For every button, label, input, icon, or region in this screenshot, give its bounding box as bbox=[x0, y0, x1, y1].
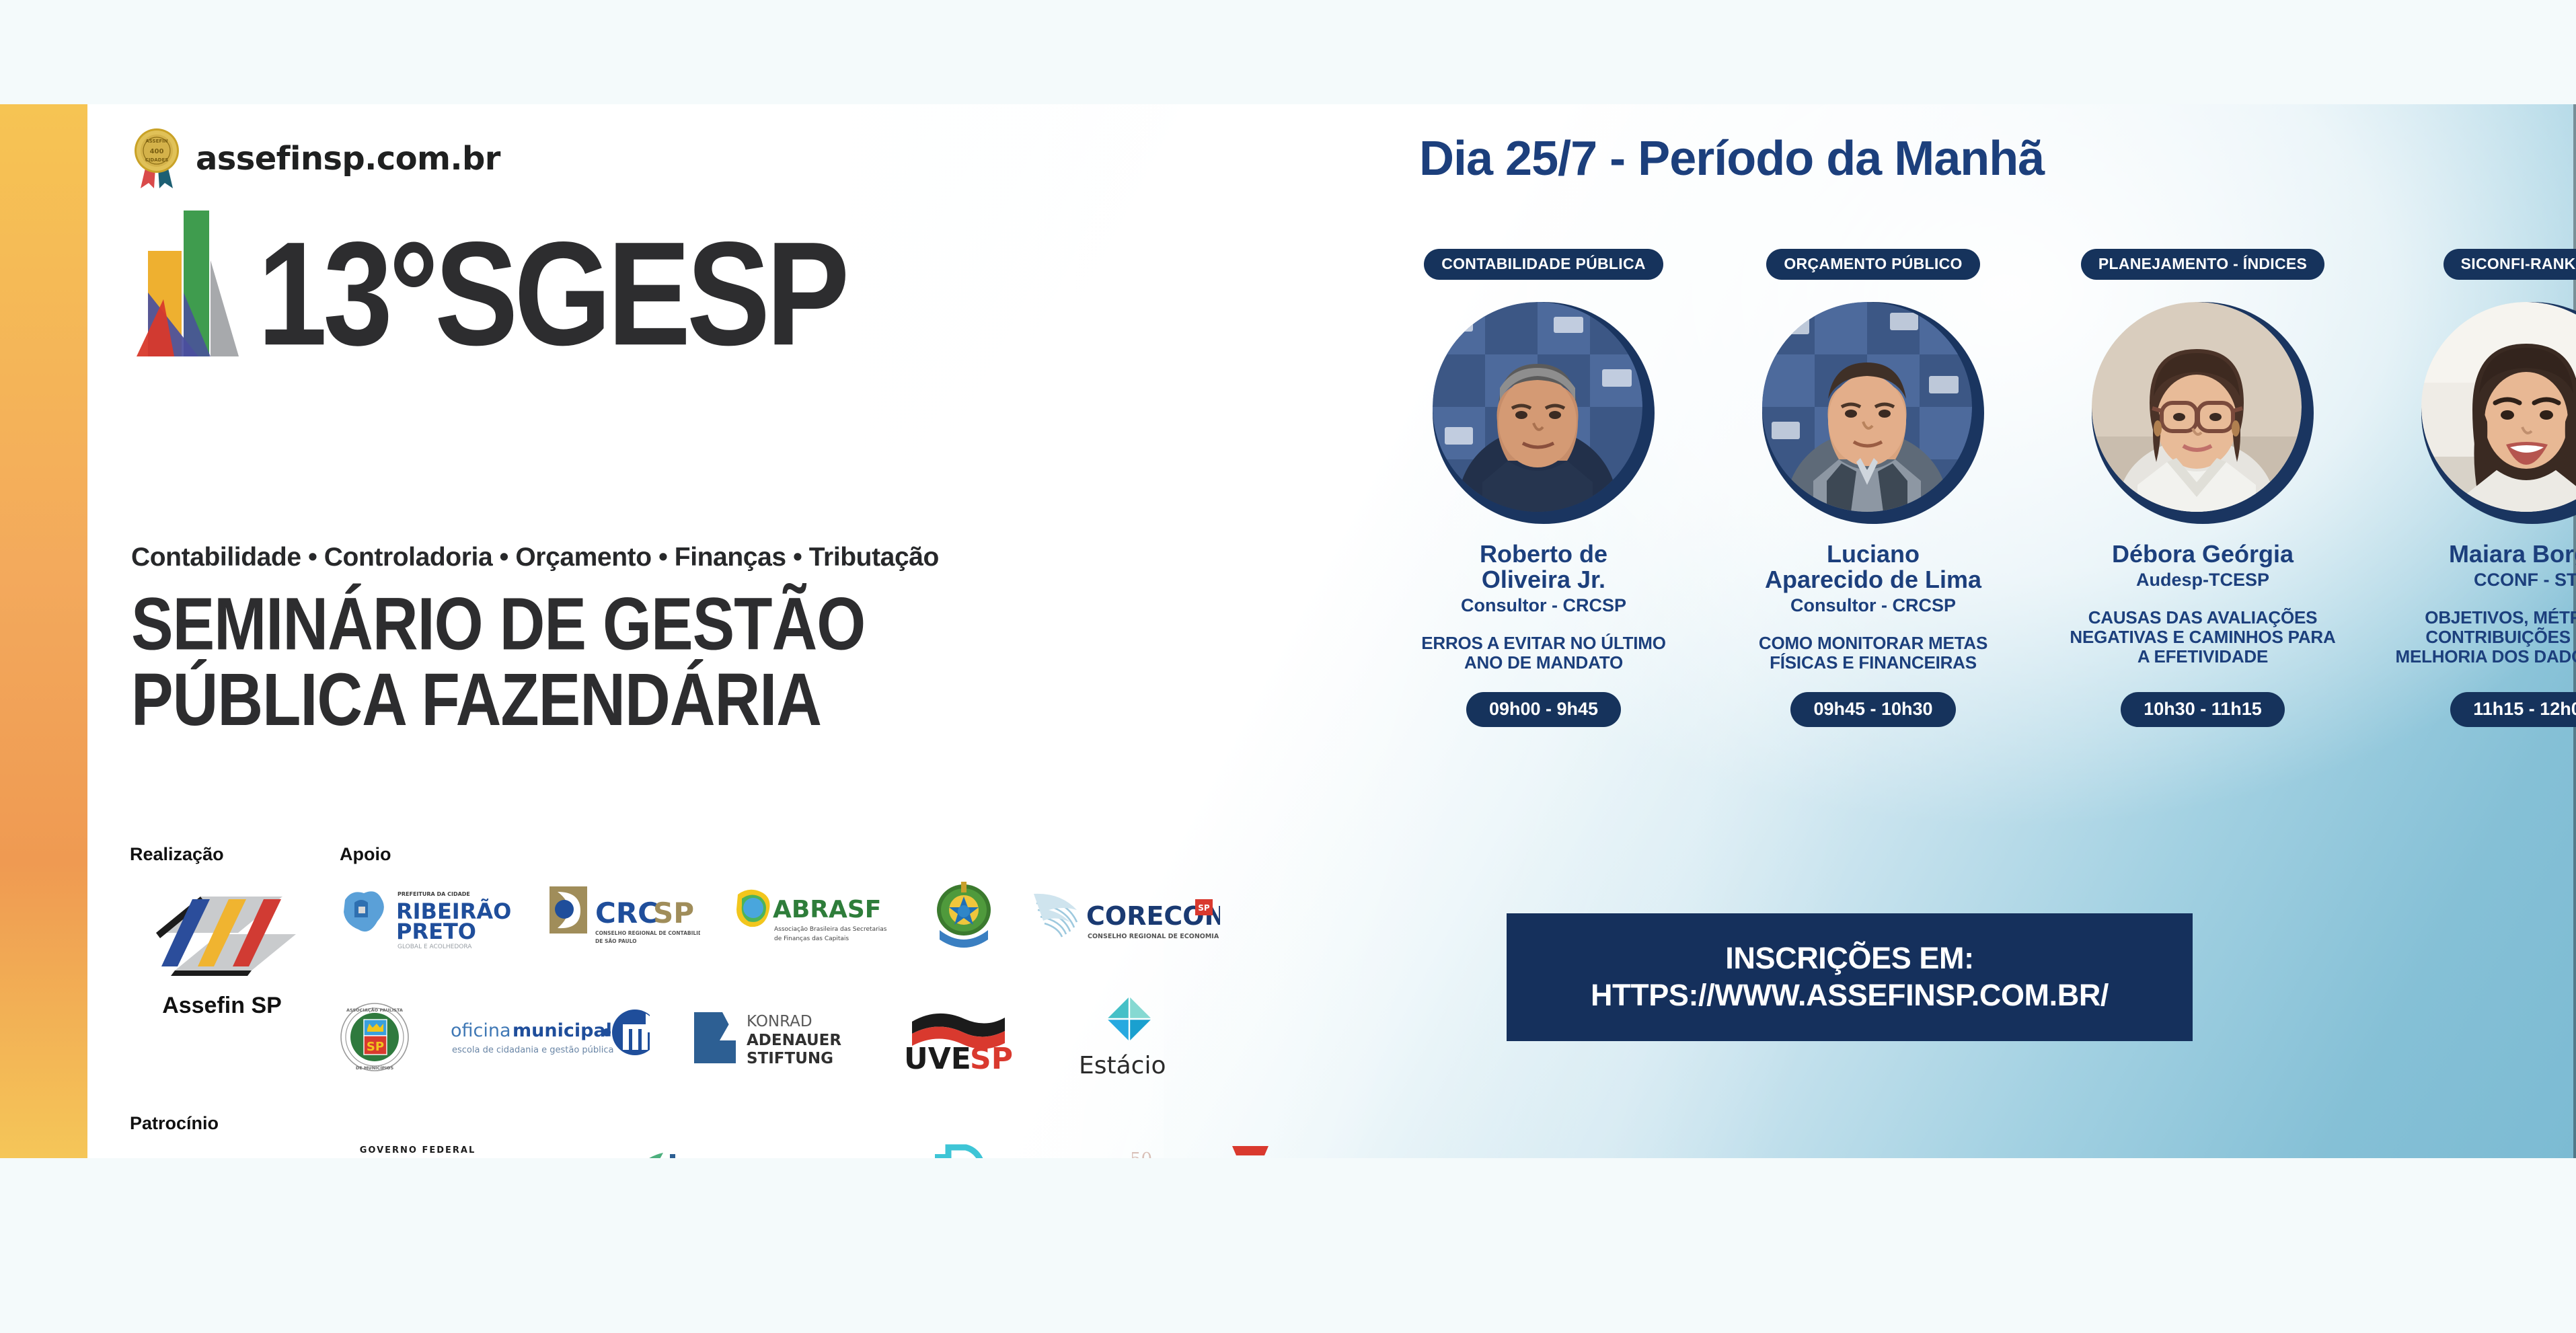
logo-brasao-republica bbox=[930, 878, 997, 955]
logo-serpro: SERPRO bbox=[130, 1152, 298, 1159]
speaker-name-line1: Débora Geórgia bbox=[2112, 541, 2294, 567]
assefin-name: Assefin SP bbox=[131, 993, 313, 1019]
agenda-column: Dia 25/7 - Período da Manhã CONTABILIDAD… bbox=[1379, 104, 2549, 1158]
speaker-name-line2: Aparecido de Lima bbox=[1765, 567, 1981, 593]
logo-nota-control: NOTA CONTROL tecnologia bbox=[538, 1150, 696, 1158]
talk-line3: A EFETIVIDADE bbox=[2070, 647, 2335, 666]
svg-text:CONSELHO REGIONAL DE CONTABILI: CONSELHO REGIONAL DE CONTABILIDADE bbox=[595, 930, 700, 936]
talk-line3: MELHORIA DOS DADOS FISCAIS bbox=[2396, 647, 2576, 666]
svg-text:SP: SP bbox=[367, 1040, 384, 1054]
speaker-photo bbox=[2092, 302, 2302, 512]
svg-text:PREFEITURA DA CIDADE: PREFEITURA DA CIDADE bbox=[397, 891, 470, 897]
seminar-title-line2: PÚBLICA FAZENDÁRIA bbox=[131, 663, 865, 739]
speaker-photo bbox=[1762, 302, 1972, 512]
speaker-photo bbox=[1433, 302, 1642, 512]
session-time-pill: 11h15 - 12h00 bbox=[2450, 692, 2576, 727]
speaker-name: Débora Geórgia bbox=[2112, 541, 2294, 567]
svg-text:GOVERNO FEDERAL: GOVERNO FEDERAL bbox=[360, 1145, 476, 1155]
assefin-realizacao-block: Assefin SP bbox=[131, 884, 313, 1019]
apoio-label: Apoio bbox=[340, 844, 391, 865]
svg-text:GLOBAL E ACOLHEDORA: GLOBAL E ACOLHEDORA bbox=[397, 944, 472, 950]
talk-line2: CONTRIBUIÇÕES PARA A bbox=[2396, 627, 2576, 647]
speaker-role: Consultor - CRCSP bbox=[1790, 595, 1956, 616]
speaker-avatar bbox=[1433, 302, 1655, 524]
bar-chart-logo-icon bbox=[124, 198, 252, 356]
subtopics-line: Contabilidade • Controladoria • Orçament… bbox=[131, 543, 939, 572]
svg-text:SP: SP bbox=[970, 1042, 1013, 1071]
logo-ribeirao-preto: PREFEITURA DA CIDADE RIBEIRÃO PRETO GLOB… bbox=[340, 880, 515, 954]
seminar-title-line1: SEMINÁRIO DE GESTÃO bbox=[131, 587, 865, 663]
talk-line1: CAUSAS DAS AVALIAÇÕES bbox=[2070, 608, 2335, 627]
speaker-role: Consultor - CRCSP bbox=[1461, 595, 1626, 616]
logo-desenvolve: DESENVOLVE TRIBUTAÇÃO MUNICIPAL SUSTENTÁ… bbox=[903, 1143, 1024, 1158]
svg-text:KONRAD: KONRAD bbox=[747, 1013, 812, 1030]
logo-apm: SP ASSOCIAÇÃO PAULISTA DE MUNICÍPIOS bbox=[340, 1002, 410, 1073]
svg-text:escola de cidadania e gestão p: escola de cidadania e gestão pública bbox=[452, 1045, 614, 1055]
session-card[interactable]: CONTABILIDADE PÚBLICA bbox=[1379, 249, 1708, 727]
speaker-name: Luciano Aparecido de Lima bbox=[1765, 541, 1981, 593]
logo-smar-apd: smar apd bbox=[727, 1155, 872, 1159]
cta-line2: HTTPS://WWW.ASSEFINSP.COM.BR/ bbox=[1591, 977, 2109, 1014]
logo-abrasf: ABRASF Associação Brasileira das Secreta… bbox=[731, 881, 899, 952]
orange-side-strip bbox=[0, 104, 87, 1158]
patrocinio-label: Patrocínio bbox=[130, 1113, 219, 1134]
logo-governo-federal-brasil: GOVERNO FEDERAL bbox=[329, 1143, 507, 1158]
registration-cta[interactable]: INSCRIÇÕES EM: HTTPS://WWW.ASSEFINSP.COM… bbox=[1507, 913, 2193, 1041]
session-card[interactable]: SICONFI-RANKING bbox=[2367, 249, 2576, 727]
logo-estacio: Estácio bbox=[1072, 995, 1186, 1079]
session-time-pill: 10h30 - 11h15 bbox=[2121, 692, 2285, 727]
session-cards: CONTABILIDADE PÚBLICA bbox=[1379, 249, 2576, 727]
seminar-title: SEMINÁRIO DE GESTÃO PÚBLICA FAZENDÁRIA bbox=[131, 587, 865, 738]
speaker-name: Maiara Borges bbox=[2449, 541, 2576, 567]
session-talk-title: OBJETIVOS, MÉTRICAS E CONTRIBUIÇÕES PARA… bbox=[2396, 608, 2576, 666]
svg-text:ASSEFIN: ASSEFIN bbox=[145, 139, 167, 144]
speaker-role: Audesp-TCESP bbox=[2136, 570, 2269, 591]
svg-text:PRETO: PRETO bbox=[396, 919, 476, 944]
session-topic-badge: PLANEJAMENTO - ÍNDICES bbox=[2081, 249, 2324, 280]
session-talk-title: ERROS A EVITAR NO ÚLTIMO ANO DE MANDATO bbox=[1421, 634, 1666, 673]
session-card[interactable]: ORÇAMENTO PÚBLICO bbox=[1708, 249, 2038, 727]
patrocinio-logos-row: SERPRO GOVERNO FEDERAL bbox=[130, 1143, 1301, 1158]
svg-text:UVE: UVE bbox=[904, 1042, 971, 1071]
logo-konrad-adenauer-stiftung: KONRAD ADENAUER STIFTUNG bbox=[687, 1004, 862, 1071]
apoio-logos-row-1: PREFEITURA DA CIDADE RIBEIRÃO PRETO GLOB… bbox=[340, 878, 1220, 955]
branding-column: ASSEFIN 400 CIDADES assefinsp.com.br bbox=[124, 104, 1174, 1158]
speaker-avatar bbox=[2092, 302, 2314, 524]
assefin-seal-icon: ASSEFIN 400 CIDADES bbox=[131, 126, 185, 191]
speaker-name-line1: Roberto de bbox=[1480, 541, 1607, 567]
svg-text:CIDADES: CIDADES bbox=[145, 157, 169, 163]
website-label: assefinsp.com.br bbox=[196, 140, 500, 178]
svg-text:ABRASF: ABRASF bbox=[773, 896, 881, 923]
speaker-name-line2: Oliveira Jr. bbox=[1480, 567, 1607, 593]
talk-line2: ANO DE MANDATO bbox=[1421, 653, 1666, 673]
speaker-avatar bbox=[1762, 302, 1984, 524]
apoio-logos-row-2: SP ASSOCIAÇÃO PAULISTA DE MUNICÍPIOS ofi… bbox=[340, 995, 1186, 1079]
realizacao-label: Realização bbox=[130, 844, 224, 865]
session-time-pill: 09h45 - 10h30 bbox=[1790, 692, 1955, 727]
agenda-day-title: Dia 25/7 - Período da Manhã bbox=[1419, 131, 2044, 186]
talk-line2: NEGATIVAS E CAMINHOS PARA bbox=[2070, 627, 2335, 647]
svg-text:DE SÃO PAULO: DE SÃO PAULO bbox=[595, 938, 637, 944]
logo-taiwan-hotel: TAIWAN HOTEL RIBEIRÃO PRETO - SP bbox=[1200, 1143, 1301, 1158]
svg-text:municipal: municipal bbox=[513, 1020, 612, 1041]
talk-line1: ERROS A EVITAR NO ÚLTIMO bbox=[1421, 634, 1666, 653]
edition-title-row: 13°SGESP bbox=[124, 198, 845, 356]
session-topic-badge: SICONFI-RANKING bbox=[2444, 249, 2576, 280]
session-talk-title: CAUSAS DAS AVALIAÇÕES NEGATIVAS E CAMINH… bbox=[2070, 608, 2335, 666]
session-topic-badge: CONTABILIDADE PÚBLICA bbox=[1424, 249, 1663, 280]
svg-text:Associação Brasileira das Secr: Associação Brasileira das Secretarias bbox=[774, 926, 887, 933]
edition-title: 13°SGESP bbox=[258, 233, 845, 356]
svg-text:STIFTUNG: STIFTUNG bbox=[747, 1050, 833, 1067]
svg-text:de Finanças das Capitais: de Finanças das Capitais bbox=[774, 936, 849, 942]
talk-line1: COMO MONITORAR METAS bbox=[1759, 634, 1987, 653]
logo-oficina-municipal: oficina municipal escola de cidadania e … bbox=[448, 1004, 650, 1071]
event-banner: ASSEFIN 400 CIDADES assefinsp.com.br bbox=[0, 104, 2576, 1158]
logo-crcsp: CRC SP CONSELHO REGIONAL DE CONTABILIDAD… bbox=[545, 881, 700, 952]
speaker-avatar bbox=[2421, 302, 2576, 524]
svg-text:ADENAUER: ADENAUER bbox=[747, 1032, 841, 1049]
cta-line1: INSCRIÇÕES EM: bbox=[1725, 940, 1973, 977]
logo-fipe: fipe 50 ANOS bbox=[1055, 1143, 1169, 1158]
session-time-pill: 09h00 - 9h45 bbox=[1466, 692, 1621, 727]
logo-uvesp: UVE SP bbox=[900, 1004, 1034, 1071]
website-row: ASSEFIN 400 CIDADES assefinsp.com.br bbox=[131, 126, 500, 191]
svg-text:SP: SP bbox=[1198, 903, 1210, 913]
speaker-name-line1: Luciano bbox=[1765, 541, 1981, 567]
session-topic-badge: ORÇAMENTO PÚBLICO bbox=[1766, 249, 1979, 280]
talk-line2: FÍSICAS E FINANCEIRAS bbox=[1759, 653, 1987, 673]
speaker-name-line1: Maiara Borges bbox=[2449, 541, 2576, 567]
svg-text:Estácio: Estácio bbox=[1079, 1052, 1166, 1079]
talk-line1: OBJETIVOS, MÉTRICAS E bbox=[2396, 608, 2576, 627]
svg-text:CONSELHO REGIONAL DE ECONOMIA: CONSELHO REGIONAL DE ECONOMIA bbox=[1088, 933, 1219, 940]
logo-corecon: CORECON SP CONSELHO REGIONAL DE ECONOMIA bbox=[1028, 883, 1220, 950]
assefin-logo-icon bbox=[148, 977, 296, 988]
svg-text:oficina: oficina bbox=[451, 1020, 511, 1041]
svg-text:DE MUNICÍPIOS: DE MUNICÍPIOS bbox=[356, 1065, 394, 1071]
session-talk-title: COMO MONITORAR METAS FÍSICAS E FINANCEIR… bbox=[1759, 634, 1987, 673]
svg-text:400: 400 bbox=[150, 148, 164, 155]
speaker-name: Roberto de Oliveira Jr. bbox=[1480, 541, 1607, 593]
svg-text:50: 50 bbox=[1130, 1149, 1152, 1158]
svg-text:SP: SP bbox=[653, 897, 694, 929]
svg-text:CRC: CRC bbox=[595, 897, 658, 929]
session-card[interactable]: PLANEJAMENTO - ÍNDICES bbox=[2038, 249, 2367, 727]
speaker-role: CCONF - STN bbox=[2474, 570, 2576, 591]
svg-text:ASSOCIAÇÃO PAULISTA: ASSOCIAÇÃO PAULISTA bbox=[346, 1007, 403, 1013]
